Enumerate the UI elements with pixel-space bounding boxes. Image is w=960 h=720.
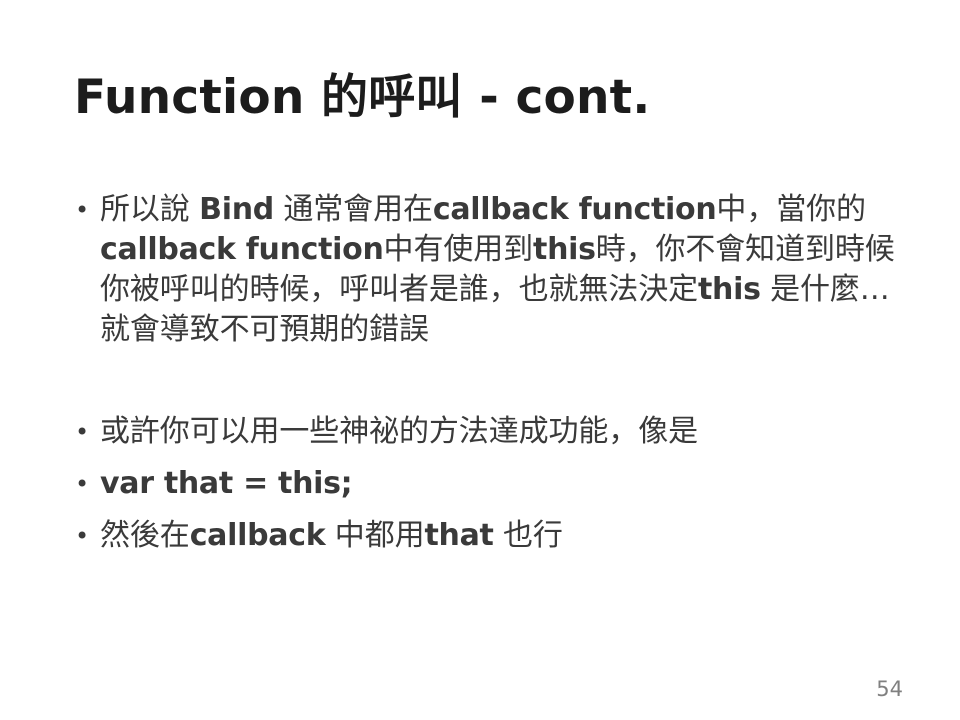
bullet-item-var-that: • var that = this; bbox=[70, 464, 900, 504]
text-run-cjk: 然後在 bbox=[100, 518, 190, 553]
bullet-item-mysterious-method: • 或許你可以用一些神祕的方法達成功能，像是 bbox=[70, 412, 900, 452]
text-run-cjk: 中都用 bbox=[325, 518, 424, 553]
text-run-latin: that bbox=[425, 518, 494, 553]
text-run-cjk: 通常會用在 bbox=[274, 192, 433, 227]
text-run-latin: this bbox=[698, 272, 761, 307]
bullet-marker-icon: • bbox=[75, 464, 95, 504]
bullet-marker-icon: • bbox=[75, 412, 95, 452]
page-title: Function 的呼叫 - cont. bbox=[74, 68, 904, 128]
text-run-latin: var that = this; bbox=[100, 466, 352, 501]
bullet-text: 然後在callback 中都用that 也行 bbox=[100, 516, 900, 556]
text-run-latin: callback function bbox=[100, 232, 384, 267]
bullet-text: var that = this; bbox=[100, 464, 900, 504]
page-number: 54 bbox=[876, 676, 903, 702]
text-run-latin: Bind bbox=[199, 192, 274, 227]
paragraph-spacer bbox=[70, 350, 900, 412]
bullet-item-use-that-in-callback: • 然後在callback 中都用that 也行 bbox=[70, 516, 900, 556]
bullet-marker-icon: • bbox=[75, 516, 95, 556]
text-run-latin: callback function bbox=[433, 192, 717, 227]
text-run-latin: this bbox=[533, 232, 596, 267]
text-run-latin: callback bbox=[190, 518, 326, 553]
bullet-text: 或許你可以用一些神祕的方法達成功能，像是 bbox=[100, 412, 900, 452]
bullet-text: 所以說 Bind 通常會用在callback function中，當你的call… bbox=[100, 190, 900, 350]
bullet-marker-icon: • bbox=[75, 190, 95, 230]
text-run-cjk: 所以說 bbox=[100, 192, 199, 227]
text-run-cjk: 或許你可以用一些神祕的方法達成功能，像是 bbox=[100, 414, 698, 449]
slide: Function 的呼叫 - cont. • 所以說 Bind 通常會用在cal… bbox=[0, 0, 960, 720]
text-run-cjk: 中，當你的 bbox=[716, 192, 866, 227]
text-run-cjk: 中有使用到 bbox=[384, 232, 534, 267]
bullet-item-bind-callback: • 所以說 Bind 通常會用在callback function中，當你的ca… bbox=[70, 190, 900, 350]
slide-body: • 所以說 Bind 通常會用在callback function中，當你的ca… bbox=[70, 190, 900, 568]
text-run-cjk: 也行 bbox=[494, 518, 563, 553]
